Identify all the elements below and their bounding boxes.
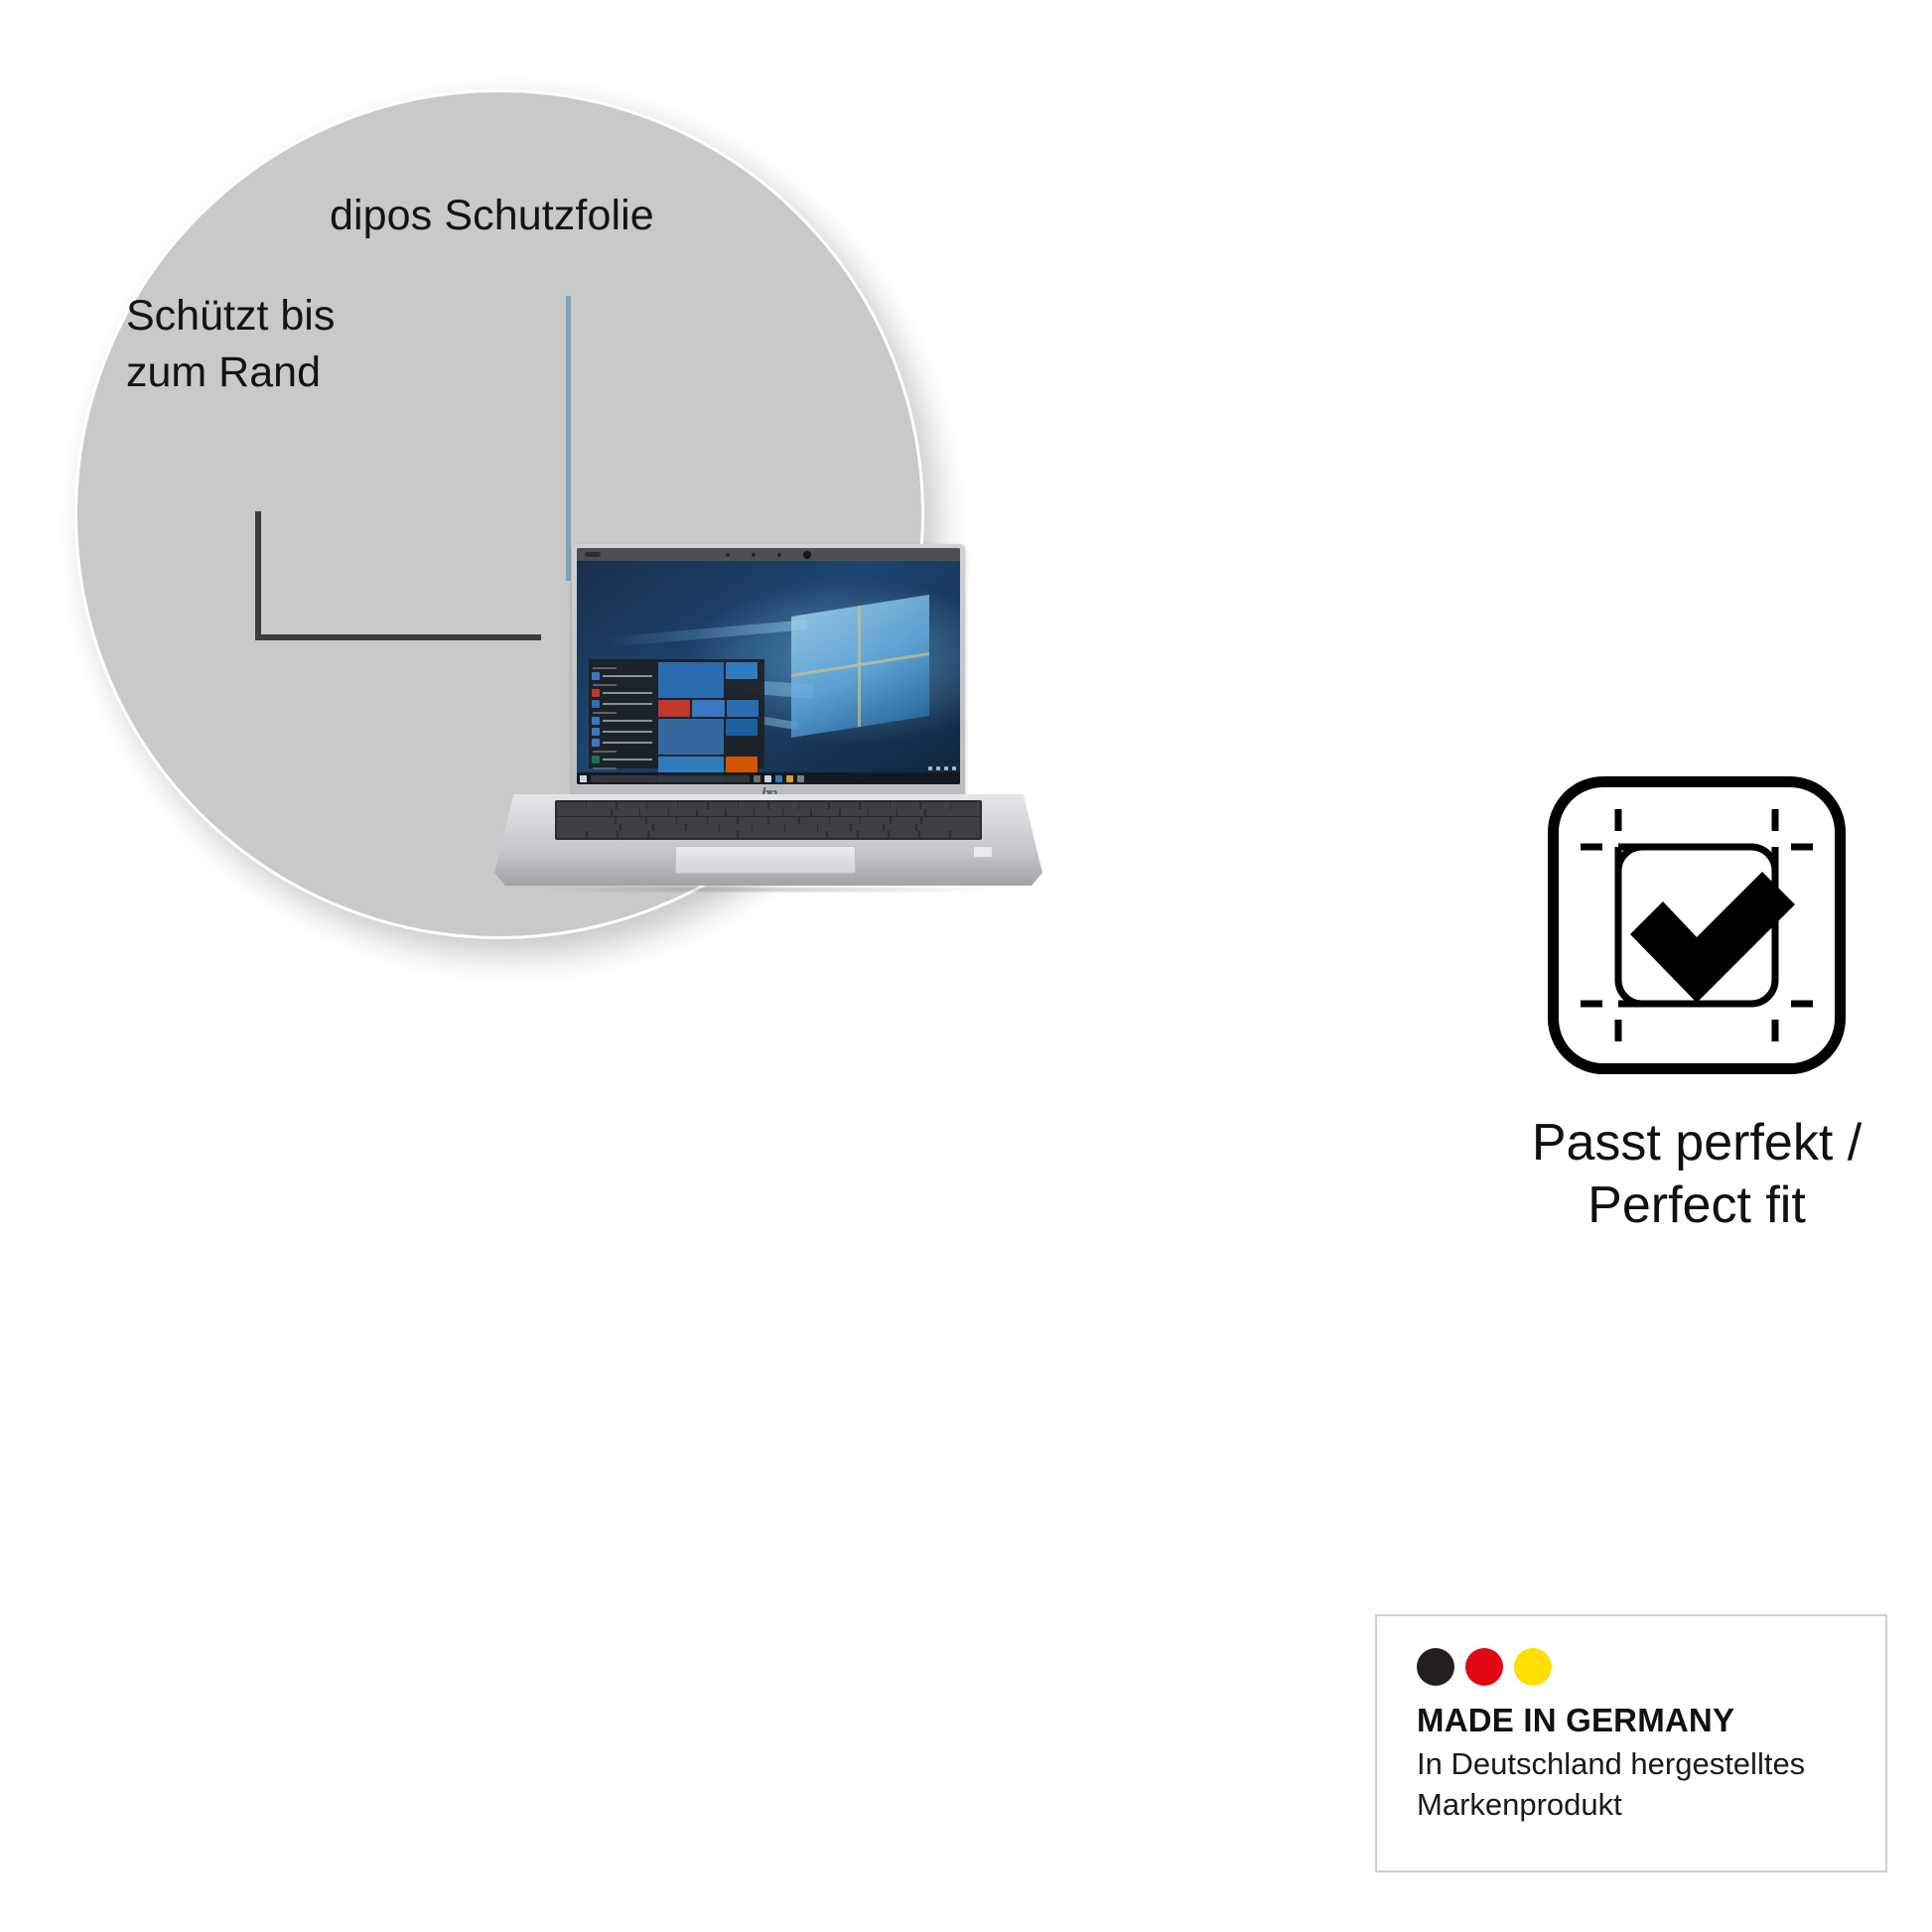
app-list-item <box>592 756 652 763</box>
circle-subtitle-line-2: zum Rand <box>126 345 335 401</box>
key <box>687 824 719 831</box>
start-menu-app-list <box>589 659 655 768</box>
start-button-icon <box>580 775 587 782</box>
key <box>769 817 798 824</box>
key <box>557 824 620 831</box>
key <box>753 824 784 831</box>
taskbar-icon <box>754 775 760 782</box>
key <box>800 817 829 824</box>
perfect-fit-label: Passt perfekt / Perfect fit <box>1449 1112 1932 1238</box>
key <box>783 809 810 816</box>
app-list-item <box>592 717 652 725</box>
key <box>557 809 611 816</box>
keyboard-row <box>557 802 981 809</box>
webcam-lens-icon <box>803 551 811 559</box>
key <box>830 817 859 824</box>
app-list-group-header <box>593 751 618 753</box>
app-icon <box>592 717 600 725</box>
app-icon <box>592 739 600 747</box>
key <box>828 831 858 838</box>
key <box>869 809 896 816</box>
key <box>654 824 686 831</box>
product-marketing-canvas: dipos Schutzfolie Schützt bis zum Rand <box>0 0 1932 1932</box>
app-label <box>603 759 652 760</box>
wallpaper-light-ray <box>608 620 807 646</box>
key <box>698 809 725 816</box>
perfect-fit-badge: Passt perfekt / Perfect fit <box>1449 776 1932 1238</box>
app-list-group-header <box>593 712 618 714</box>
key <box>557 802 586 809</box>
key <box>647 802 676 809</box>
ir-dot-icon <box>777 553 781 557</box>
system-tray <box>928 766 956 770</box>
tray-icon <box>944 766 948 770</box>
app-label <box>603 742 652 744</box>
taskbar-icon <box>797 775 804 782</box>
taskbar-icon <box>786 775 793 782</box>
start-tile <box>726 757 758 773</box>
key <box>951 831 981 838</box>
taskbar-icon <box>764 775 771 782</box>
perfect-fit-checkmark-icon <box>1548 776 1846 1074</box>
key <box>727 809 754 816</box>
key <box>557 817 616 824</box>
start-tile <box>658 700 690 717</box>
key <box>678 802 707 809</box>
made-in-germany-line-1: In Deutschland hergestelltes <box>1417 1744 1885 1785</box>
app-list-item <box>592 739 652 747</box>
privacy-shutter-icon <box>585 552 601 557</box>
product-shadow <box>544 886 994 894</box>
taskbar-search-box <box>591 775 750 782</box>
key <box>613 809 639 816</box>
circle-subtitle-line-1: Schützt bis <box>126 288 335 345</box>
key <box>739 817 767 824</box>
film-pointer-line <box>566 296 571 581</box>
made-in-germany-badge: MADE IN GERMANY In Deutschland hergestel… <box>1375 1614 1887 1872</box>
key <box>861 802 890 809</box>
app-label <box>603 720 652 722</box>
clock-icon <box>952 766 956 770</box>
app-list-group-header <box>593 684 618 686</box>
spacebar-key <box>649 831 738 838</box>
key <box>769 802 798 809</box>
key <box>861 817 890 824</box>
key <box>852 824 884 831</box>
laptop-base <box>494 794 1042 886</box>
windows-logo-wallpaper <box>791 595 929 738</box>
start-tile <box>658 719 724 755</box>
app-list-item <box>592 672 652 680</box>
keyboard-row <box>557 831 981 838</box>
key <box>617 817 645 824</box>
windows-taskbar <box>577 772 960 784</box>
flag-dot-yellow <box>1514 1648 1552 1686</box>
key <box>739 802 767 809</box>
tray-icon <box>936 766 940 770</box>
key <box>830 802 859 809</box>
taskbar-icon <box>775 775 782 782</box>
edge-bracket-vertical <box>255 511 261 640</box>
key <box>640 809 667 816</box>
app-label <box>603 692 652 694</box>
key <box>812 809 839 816</box>
fingerprint-reader-icon <box>973 846 993 858</box>
made-in-germany-line-2: Markenprodukt <box>1417 1785 1885 1826</box>
key <box>647 817 676 824</box>
key <box>708 817 737 824</box>
key <box>818 824 850 831</box>
keyboard-row <box>557 817 981 824</box>
key <box>920 831 950 838</box>
key <box>841 809 868 816</box>
laptop-lid: hp <box>572 544 965 804</box>
key <box>890 831 919 838</box>
key <box>669 809 696 816</box>
key <box>885 824 916 831</box>
webcam-bar <box>577 548 960 561</box>
start-tile <box>658 662 724 698</box>
key <box>897 809 924 816</box>
key <box>619 831 648 838</box>
laptop-touchpad <box>675 846 856 874</box>
german-flag-dots <box>1417 1648 1885 1686</box>
key <box>892 817 920 824</box>
key <box>588 831 618 838</box>
start-tile <box>726 662 758 679</box>
key <box>618 802 646 809</box>
app-label <box>603 731 652 733</box>
key <box>926 809 980 816</box>
key <box>891 802 919 809</box>
key <box>709 802 738 809</box>
keyboard-row <box>557 824 981 831</box>
key <box>587 802 616 809</box>
laptop-screen <box>577 561 960 784</box>
made-in-germany-title: MADE IN GERMANY <box>1417 1702 1885 1739</box>
app-list-item <box>592 700 652 708</box>
app-icon <box>592 672 600 680</box>
key <box>621 824 653 831</box>
flag-dot-red <box>1465 1648 1503 1686</box>
app-list-group-header <box>593 767 618 769</box>
app-list-item <box>592 728 652 736</box>
key <box>921 802 950 809</box>
key <box>720 824 752 831</box>
app-list-group-header <box>593 667 618 669</box>
app-icon <box>592 700 600 708</box>
laptop-keyboard <box>555 800 983 840</box>
tray-icon <box>928 766 932 770</box>
sensor-dot-icon <box>726 553 730 557</box>
start-tile <box>727 700 759 717</box>
key <box>755 809 781 816</box>
circle-title: dipos Schutzfolie <box>330 192 654 240</box>
app-icon <box>592 756 600 763</box>
flag-dot-black <box>1417 1648 1454 1686</box>
start-menu-tiles <box>655 659 764 768</box>
circle-subtitle: Schützt bis zum Rand <box>126 288 335 401</box>
start-tile <box>726 719 758 736</box>
app-label <box>603 675 652 677</box>
key <box>951 802 980 809</box>
key <box>677 817 706 824</box>
app-icon <box>592 728 600 736</box>
app-icon <box>592 689 600 697</box>
app-list-item <box>592 689 652 697</box>
laptop-product-image: hp <box>494 544 1042 921</box>
spacebar-key <box>739 831 827 838</box>
sensor-dot-icon <box>752 553 756 557</box>
key <box>557 831 587 838</box>
key <box>799 802 828 809</box>
windows-start-menu <box>589 659 765 768</box>
key <box>922 817 981 824</box>
keyboard-row <box>557 809 981 816</box>
key <box>859 831 889 838</box>
laptop-bezel <box>577 548 960 784</box>
key <box>785 824 817 831</box>
key <box>917 824 980 831</box>
app-label <box>603 703 652 705</box>
start-tile <box>692 700 724 717</box>
